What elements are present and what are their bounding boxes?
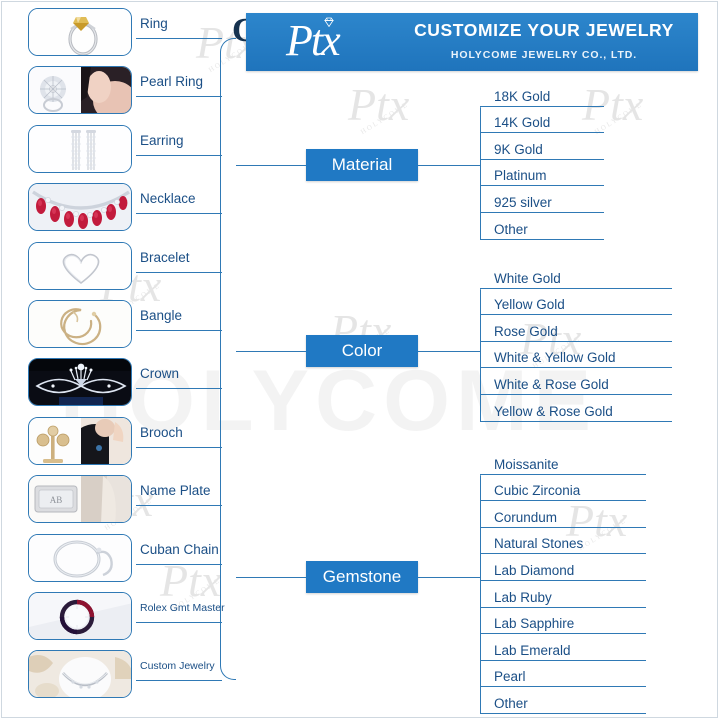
option-group-pill-gemstone[interactable]: Gemstone (306, 561, 418, 593)
category-item-name-plate[interactable]: AB Name Plate (0, 471, 236, 519)
cuban-chain-thumbnail[interactable] (28, 534, 132, 582)
connector-rail-to-pill (236, 577, 306, 578)
option-group-pill-label: Material (332, 155, 392, 175)
category-item-necklace[interactable]: Necklace (0, 179, 236, 227)
option-item-label: Corundum (494, 510, 557, 525)
name-plate-thumbnail[interactable]: AB (28, 475, 132, 523)
option-item[interactable]: Pearl (480, 661, 646, 688)
bangle-thumbnail[interactable] (28, 300, 132, 348)
option-item[interactable]: Other (480, 213, 604, 240)
necklace-thumbnail[interactable] (28, 183, 132, 231)
crown-thumbnail[interactable] (28, 358, 132, 406)
banner-text: CUSTOMIZE YOUR JEWELRY HOLYCOME JEWELRY … (396, 20, 692, 61)
option-item-label: 925 silver (494, 195, 552, 210)
option-item[interactable]: 18K Gold (480, 80, 604, 107)
option-item[interactable]: 925 silver (480, 186, 604, 213)
category-item-label: Pearl Ring (140, 74, 236, 89)
connector-pill-to-options (418, 577, 480, 578)
product-category-rail: Ring Pearl Ring (0, 0, 236, 720)
option-group-pill-label: Gemstone (323, 567, 401, 587)
option-item[interactable]: Rose Gold (480, 315, 672, 342)
category-leader-line (136, 272, 222, 273)
option-item-label: White & Rose Gold (494, 377, 609, 392)
category-item-label: Rolex Gmt Master (140, 602, 236, 614)
option-list-color: White GoldYellow GoldRose GoldWhite & Ye… (480, 262, 672, 422)
option-item[interactable]: White Gold (480, 262, 672, 289)
option-item-label: Rose Gold (494, 324, 558, 339)
option-item-label: Yellow Gold (494, 297, 565, 312)
category-item-label: Cuban Chain (140, 542, 236, 557)
option-item-label: Yellow & Rose Gold (494, 404, 613, 419)
category-leader-line (136, 213, 222, 214)
option-item-label: White & Yellow Gold (494, 350, 616, 365)
category-leader-line (136, 388, 222, 389)
option-item[interactable]: Other (480, 687, 646, 714)
rail-spine (220, 52, 221, 666)
option-item[interactable]: Lab Emerald (480, 634, 646, 661)
option-list-bracket (480, 289, 481, 422)
category-item-label: Bracelet (140, 250, 236, 265)
option-item[interactable]: Yellow Gold (480, 289, 672, 316)
option-item-label: Lab Diamond (494, 563, 574, 578)
option-item[interactable]: White & Yellow Gold (480, 342, 672, 369)
option-item-label: 14K Gold (494, 115, 550, 130)
option-item-label: Other (494, 222, 528, 237)
option-item-label: Cubic Zirconia (494, 483, 580, 498)
custom-jewelry-thumbnail[interactable] (28, 650, 132, 698)
category-item-label: Crown (140, 366, 236, 381)
connector-rail-to-pill (236, 351, 306, 352)
option-item[interactable]: Moissanite (480, 448, 646, 475)
category-item-crown[interactable]: Crown (0, 354, 236, 402)
option-item-label: Lab Sapphire (494, 616, 574, 631)
option-group-pill-color[interactable]: Color (306, 335, 418, 367)
brand-logo: Ptx (282, 15, 378, 69)
option-item[interactable]: Yellow & Rose Gold (480, 395, 672, 422)
category-item-custom-jewelry[interactable]: Custom Jewelry (0, 646, 236, 694)
option-item[interactable]: 14K Gold (480, 107, 604, 134)
category-item-label: Brooch (140, 425, 236, 440)
bracelet-thumbnail[interactable] (28, 242, 132, 290)
earring-thumbnail[interactable] (28, 125, 132, 173)
category-item-brooch[interactable]: Brooch (0, 413, 236, 461)
category-leader-line (136, 38, 222, 39)
option-item-label: Pearl (494, 669, 526, 684)
option-item-label: Natural Stones (494, 536, 583, 551)
ring-thumbnail[interactable] (28, 8, 132, 56)
category-item-bangle[interactable]: Bangle (0, 296, 236, 344)
category-item-cuban-chain[interactable]: Cuban Chain (0, 530, 236, 578)
option-list-gemstone: MoissaniteCubic ZirconiaCorundumNatural … (480, 448, 646, 714)
banner: Ptx CUSTOMIZE YOUR JEWELRY HOLYCOME JEWE… (246, 13, 698, 71)
category-item-label: Necklace (140, 191, 236, 206)
option-list-bracket (480, 475, 481, 714)
banner-title: CUSTOMIZE YOUR JEWELRY (396, 20, 692, 41)
category-item-label: Bangle (140, 308, 236, 323)
option-item-label: Lab Ruby (494, 590, 552, 605)
category-leader-line (136, 680, 222, 681)
category-leader-line (136, 505, 222, 506)
option-item[interactable]: 9K Gold (480, 133, 604, 160)
option-list-bracket (480, 107, 481, 240)
option-item[interactable]: Platinum (480, 160, 604, 187)
category-leader-line (136, 622, 222, 623)
option-item[interactable]: White & Rose Gold (480, 368, 672, 395)
category-leader-line (136, 447, 222, 448)
category-item-earring[interactable]: Earring (0, 121, 236, 169)
category-item-ring[interactable]: Ring (0, 4, 236, 52)
category-item-rolex-gmt-master[interactable]: Rolex Gmt Master (0, 588, 236, 636)
brand-logo-text: Ptx (286, 19, 339, 63)
pearl-ring-thumbnail[interactable] (28, 66, 132, 114)
banner-subtitle: HOLYCOME JEWELRY CO., LTD. (396, 49, 692, 61)
category-leader-line (136, 155, 222, 156)
option-item[interactable]: Corundum (480, 501, 646, 528)
connector-pill-to-options (418, 351, 480, 352)
option-group-pill-material[interactable]: Material (306, 149, 418, 181)
category-item-bracelet[interactable]: Bracelet (0, 238, 236, 286)
rolex-gmt-master-thumbnail[interactable] (28, 592, 132, 640)
category-item-label: Name Plate (140, 483, 236, 498)
category-leader-line (136, 330, 222, 331)
option-item[interactable]: Lab Sapphire (480, 608, 646, 635)
option-item[interactable]: Lab Diamond (480, 554, 646, 581)
category-leader-line (136, 564, 222, 565)
connector-pill-to-options (418, 165, 480, 166)
option-item-label: Other (494, 696, 528, 711)
option-group-pill-label: Color (342, 341, 383, 361)
svg-text:AB: AB (50, 495, 63, 505)
category-item-label: Ring (140, 16, 236, 31)
category-item-pearl-ring[interactable]: Pearl Ring (0, 62, 236, 110)
option-item-label: Moissanite (494, 457, 559, 472)
brooch-thumbnail[interactable] (28, 417, 132, 465)
option-item[interactable]: Lab Ruby (480, 581, 646, 608)
connector-rail-to-pill (236, 165, 306, 166)
option-item-label: Platinum (494, 168, 547, 183)
option-list-material: 18K Gold14K Gold9K GoldPlatinum925 silve… (480, 80, 604, 240)
option-item[interactable]: Cubic Zirconia (480, 475, 646, 502)
option-item-label: Lab Emerald (494, 643, 571, 658)
category-leader-line (136, 96, 222, 97)
option-item-label: White Gold (494, 271, 561, 286)
option-item-label: 9K Gold (494, 142, 543, 157)
option-item-label: 18K Gold (494, 89, 550, 104)
option-item[interactable]: Natural Stones (480, 528, 646, 555)
category-item-label: Earring (140, 133, 236, 148)
